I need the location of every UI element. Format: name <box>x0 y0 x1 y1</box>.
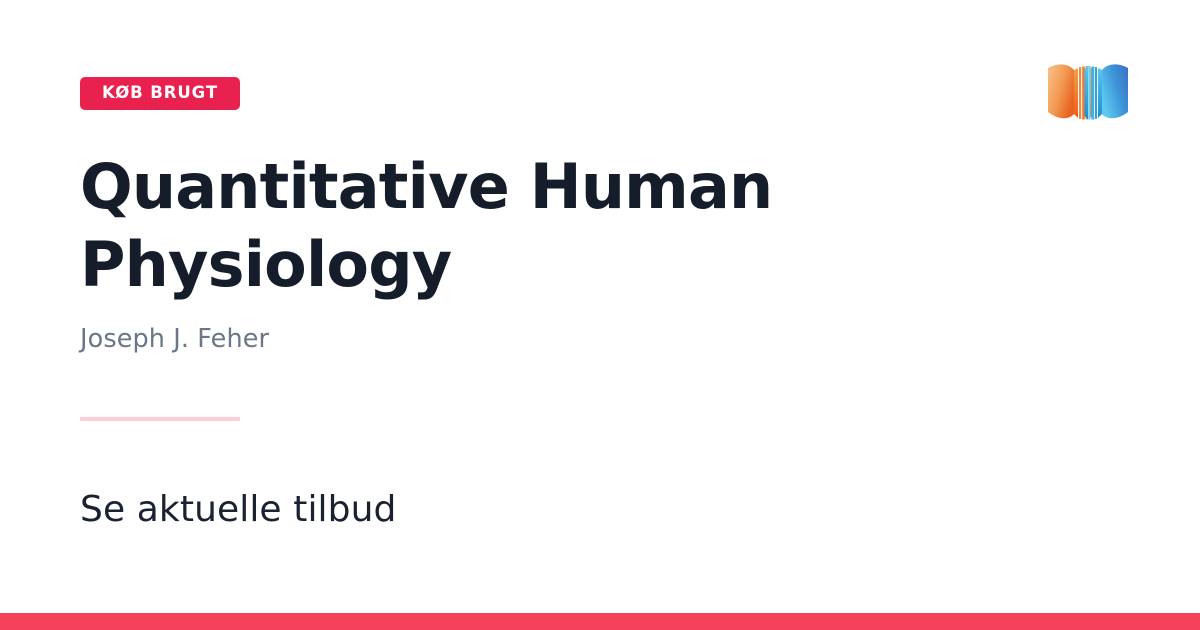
title-line-2: Physiology <box>80 228 451 301</box>
logo-mark <box>1048 64 1128 119</box>
divider <box>80 417 240 421</box>
cta-text[interactable]: Se aktuelle tilbud <box>80 486 396 534</box>
status-badge: KØB BRUGT <box>80 77 240 110</box>
social-card: KØB BRUGT <box>0 0 1200 630</box>
logo-reflection <box>1048 147 1128 154</box>
title-line-1: Quantitative Human <box>80 150 772 223</box>
page-title: Quantitative Human Physiology <box>80 148 840 304</box>
bottom-accent-bar <box>0 613 1200 630</box>
book-author: Joseph J. Feher <box>80 322 269 356</box>
butterfly-book-logo <box>1036 50 1140 154</box>
